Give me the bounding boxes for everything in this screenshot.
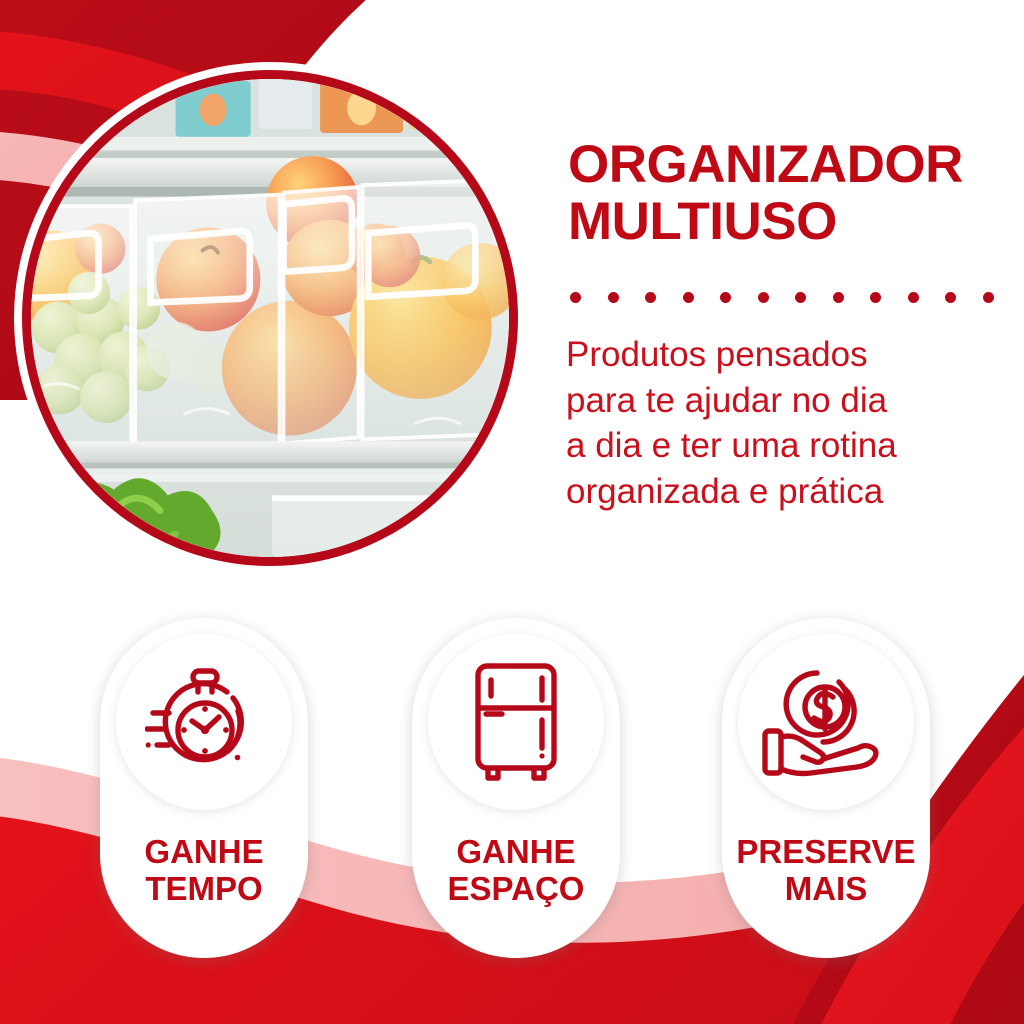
feature-label-line-2: ESPAÇO [448,871,585,908]
feature-badge-ganhe-espaco[interactable]: GANHE ESPAÇO [412,618,620,958]
hand-coin-icon [761,663,891,781]
divider-dot [608,292,619,303]
feature-label-line-1: GANHE [144,834,263,871]
page-title: ORGANIZADOR MULTIUSO [568,136,1018,250]
subcopy-line-1: Produtos pensados [566,332,1016,378]
subcopy-line-3: a dia e ter uma rotina [566,423,1016,469]
feature-icon-circle [738,634,914,810]
product-photo [14,62,526,574]
photo-clip [31,79,509,557]
feature-label: GANHE TEMPO [144,834,263,908]
subcopy-line-4: organizada e prática [566,469,1016,515]
headline-line-1: ORGANIZADOR [568,135,963,194]
headline-line-2: MULTIUSO [568,193,1018,250]
feature-icon-circle [428,634,604,810]
divider-dot [683,292,694,303]
divider-dot [720,292,731,303]
feature-label-line-1: PRESERVE [736,834,915,871]
divider-dot [833,292,844,303]
divider-dot [983,292,994,303]
refrigerator-icon [464,660,568,784]
divider-dot [945,292,956,303]
promo-banner: ORGANIZADOR MULTIUSO Produtos pensados p… [0,0,1024,1024]
dot-divider [570,292,994,303]
feature-badge-ganhe-tempo[interactable]: GANHE TEMPO [100,618,308,958]
photo-ring-border [22,70,518,566]
subheading-copy: Produtos pensados para te ajudar no dia … [566,332,1016,514]
feature-badges: GANHE TEMPO [0,618,1024,970]
divider-dot [645,292,656,303]
feature-label-line-2: MAIS [736,871,915,908]
feature-label: PRESERVE MAIS [736,834,915,908]
feature-label-line-1: GANHE [448,834,585,871]
fridge-organizer-illustration [31,79,509,557]
divider-dot [870,292,881,303]
feature-label-line-2: TEMPO [144,871,263,908]
divider-dot [795,292,806,303]
feature-badge-preserve-mais[interactable]: PRESERVE MAIS [722,618,930,958]
divider-dot [908,292,919,303]
feature-icon-circle [116,634,292,810]
divider-dot [758,292,769,303]
feature-label: GANHE ESPAÇO [448,834,585,908]
stopwatch-icon [145,663,263,781]
divider-dot [570,292,581,303]
subcopy-line-2: para te ajudar no dia [566,378,1016,424]
